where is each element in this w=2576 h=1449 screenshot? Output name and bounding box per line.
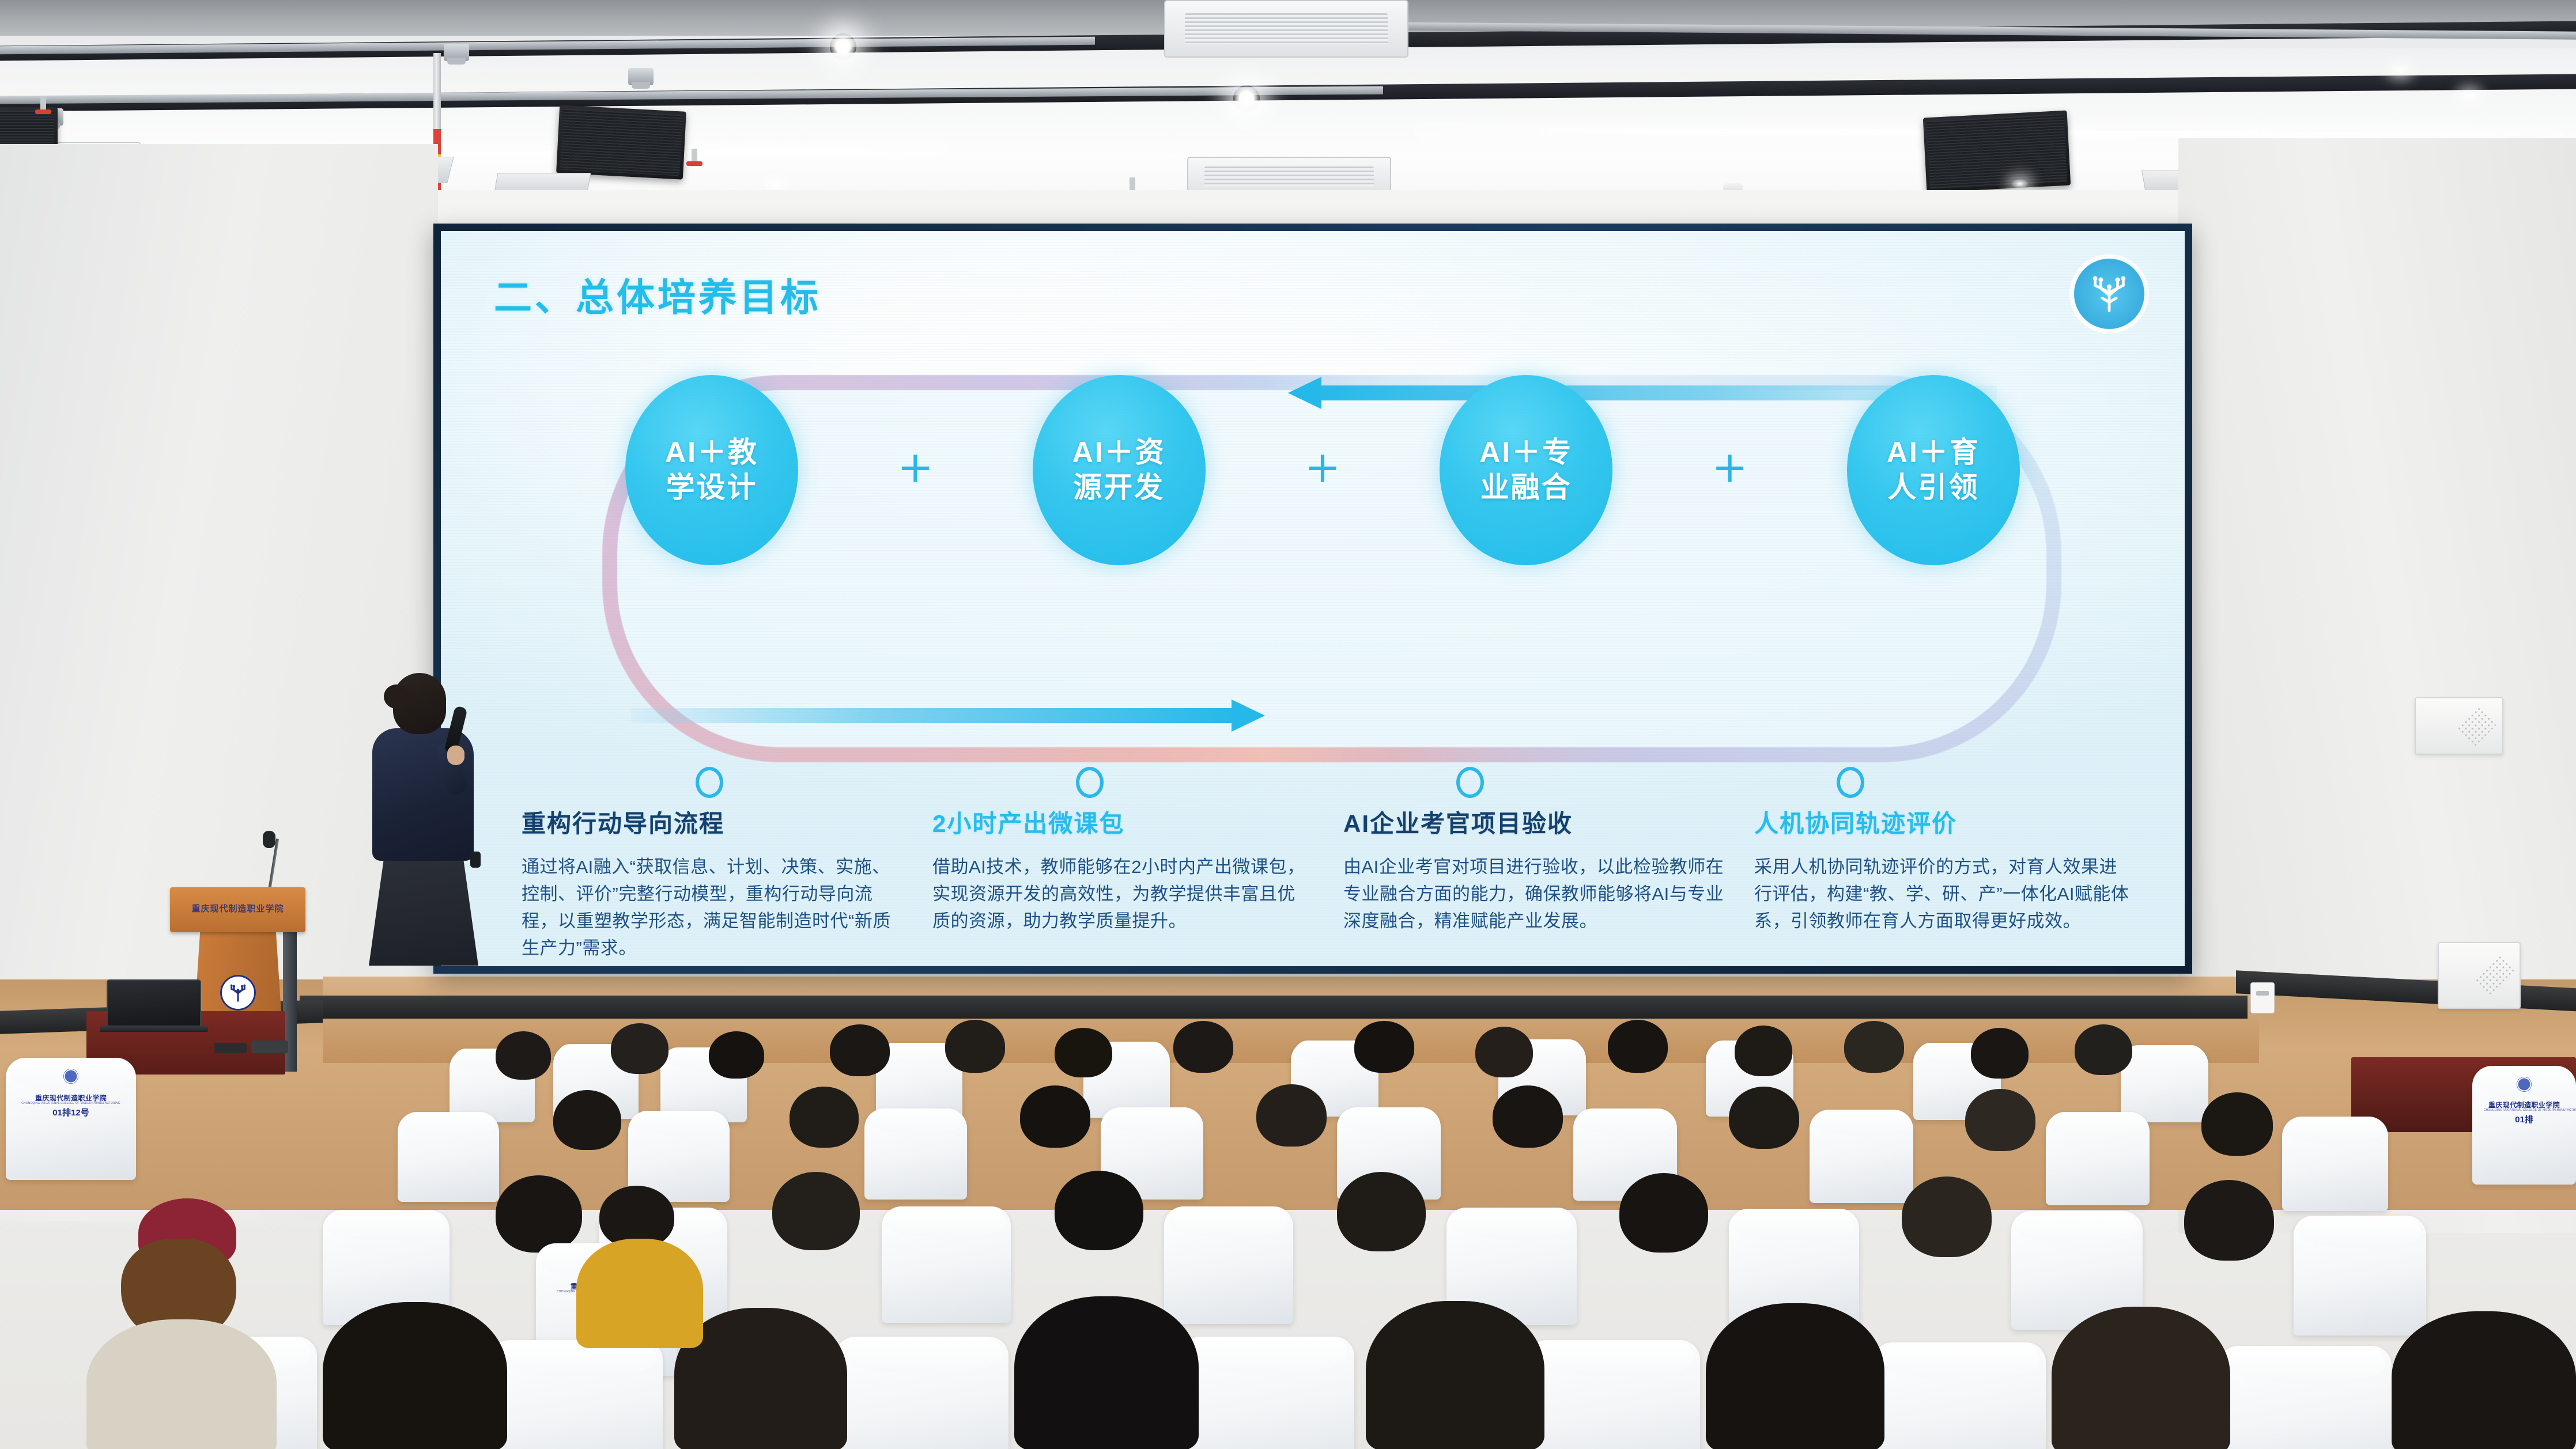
chair xyxy=(1181,1337,1354,1449)
audience-shoulders xyxy=(2052,1307,2230,1449)
audience-head xyxy=(1608,1020,1668,1073)
chair-institution-cn: 重庆现代制造职业学院 xyxy=(2484,1102,2564,1109)
connector-ring-2 xyxy=(1076,767,1104,798)
chair-institution-en: CHONGQING VOCATIONAL COLLEGE OF MODERN M… xyxy=(20,1102,122,1106)
audience-head xyxy=(496,1175,582,1253)
description-column-1: 重构行动导向流程 通过将AI融入“获取信息、计划、决策、实施、控制、评价”完整行… xyxy=(522,804,902,966)
column-body: 由AI企业考官对项目进行验收，以此检验教师在专业融合方面的能力，确保教师能够将A… xyxy=(1343,853,1724,935)
chair xyxy=(2121,1045,2208,1122)
ceiling-bulb xyxy=(830,33,856,60)
ac-grille xyxy=(1185,13,1388,44)
audience-head xyxy=(790,1087,859,1148)
presenter-skirt xyxy=(369,856,478,966)
column-heading: AI企业考官项目验收 xyxy=(1343,804,1724,839)
chair xyxy=(1810,1110,1913,1203)
node-line-1: AI＋专 xyxy=(1479,436,1573,468)
audience-head xyxy=(772,1172,860,1250)
node-line-1: AI＋资 xyxy=(1072,436,1166,468)
chair xyxy=(1527,1340,1700,1449)
audience-head xyxy=(1735,1026,1792,1076)
column-heading: 人机协同轨迹评价 xyxy=(1754,804,2135,839)
node-ellipse-2[interactable]: AI＋资 源开发 xyxy=(1033,375,1206,565)
chair-seat-number: 01排12号 xyxy=(20,1108,122,1118)
power-socket[interactable] xyxy=(2250,982,2275,1013)
speaker-mesh xyxy=(560,109,682,176)
node-line-2: 源开发 xyxy=(1073,471,1165,504)
ceiling-spotlight xyxy=(628,68,654,85)
description-column-2: 2小时产出微课包 借助AI技术，教师能够在2小时内产出微课包，实现资源开发的高效… xyxy=(932,804,1313,966)
chair xyxy=(490,1340,663,1449)
arrow-head-right xyxy=(1232,699,1265,732)
audience-head xyxy=(1055,1028,1112,1077)
ac-grille xyxy=(1204,167,1374,188)
column-body: 借助AI技术，教师能够在2小时内产出微课包，实现资源开发的高效性，为教学提供丰富… xyxy=(932,853,1313,935)
audience-head xyxy=(1475,1027,1533,1077)
node-ellipse-3[interactable]: AI＋专 业融合 xyxy=(1440,375,1612,565)
recessed-downlight xyxy=(2011,179,2029,189)
speaker-mesh xyxy=(1927,114,2067,189)
audience-shoulders xyxy=(1706,1303,1884,1449)
audience-head xyxy=(1055,1171,1143,1250)
audience-shoulders-cream xyxy=(86,1319,277,1449)
slide-canvas: 二、总体培养目标 xyxy=(441,231,2185,966)
chair-labelled: 重庆现代制造职业学院 CHONGQING VOCATIONAL COLLEGE … xyxy=(2472,1066,2576,1185)
audience-shoulders xyxy=(1366,1301,1544,1449)
lecture-hall-photo: 二、总体培养目标 xyxy=(0,0,2576,1449)
fire-sprinkler xyxy=(692,149,697,166)
audience-head xyxy=(1619,1173,1708,1253)
speaker-perforation xyxy=(2475,954,2517,997)
audience-head xyxy=(1354,1021,1414,1073)
description-columns: 重构行动导向流程 通过将AI融入“获取信息、计划、决策、实施、控制、评价”完整行… xyxy=(522,804,2135,966)
plus-sign-3: ＋ xyxy=(1712,452,1748,488)
audience-head xyxy=(945,1020,1005,1073)
chair-logo-icon xyxy=(2517,1077,2532,1092)
speaker-perforation xyxy=(2457,706,2498,746)
chair xyxy=(2294,1216,2426,1335)
chair-seat-number: 01排 xyxy=(2484,1115,2564,1125)
audience-shoulders xyxy=(1014,1296,1199,1449)
chair xyxy=(836,1337,1009,1449)
audience-head xyxy=(553,1090,621,1150)
ceiling-bulb xyxy=(1233,85,1260,112)
plus-sign-2: ＋ xyxy=(1305,452,1340,488)
audience-head xyxy=(709,1031,764,1079)
audience-shoulders-yellow xyxy=(576,1239,703,1348)
chair xyxy=(2046,1112,2150,1205)
recessed-downlight xyxy=(2392,65,2409,75)
audience-head xyxy=(2075,1024,2132,1075)
desk-phone[interactable] xyxy=(251,1041,288,1053)
node-ellipse-4[interactable]: AI＋育 人引领 xyxy=(1847,375,2020,565)
column-heading: 重构行动导向流程 xyxy=(522,804,902,839)
audience-head xyxy=(611,1023,668,1074)
chair-logo-icon xyxy=(63,1069,78,1084)
audience-head xyxy=(1902,1176,1992,1257)
chair xyxy=(2282,1117,2388,1211)
chair xyxy=(882,1206,1011,1323)
audience-head xyxy=(830,1024,890,1076)
audience-head xyxy=(1020,1085,1090,1148)
projection-screen: 二、总体培养目标 xyxy=(433,224,2192,974)
presentation-clicker[interactable] xyxy=(470,852,481,868)
chair xyxy=(1873,1342,2046,1449)
chair xyxy=(864,1108,967,1200)
node-line-2: 人引领 xyxy=(1887,471,1979,504)
audience-shoulders xyxy=(323,1302,507,1449)
presenter-hand xyxy=(447,746,464,765)
connector-ring-3 xyxy=(1456,767,1484,798)
wall-speaker-panel xyxy=(2415,697,2503,755)
chair-institution-cn: 重庆现代制造职业学院 xyxy=(20,1095,122,1102)
plus-sign-1: ＋ xyxy=(897,452,933,488)
ceiling-speaker xyxy=(1923,111,2071,193)
desk-remote[interactable] xyxy=(214,1043,247,1053)
connector-ring-1 xyxy=(696,767,723,798)
audience-head xyxy=(496,1031,551,1080)
ceiling-speaker xyxy=(556,105,686,179)
podium-microphone-head xyxy=(263,831,275,848)
audience-head xyxy=(1337,1172,1426,1251)
presenter xyxy=(369,673,478,961)
air-conditioner-cassette xyxy=(1164,0,1408,58)
chair-seat-tag: 重庆现代制造职业学院 CHONGQING VOCATIONAL COLLEGE … xyxy=(20,1095,122,1118)
description-column-4: 人机协同轨迹评价 采用人机协同轨迹评价的方式，对育人效果进行评估，构建“教、学、… xyxy=(1754,804,2135,966)
audience-head xyxy=(2201,1092,2273,1156)
audience-head xyxy=(1173,1021,1233,1073)
audience-shoulders xyxy=(2392,1311,2576,1449)
chair-seat-tag: 重庆现代制造职业学院 CHONGQING VOCATIONAL COLLEGE … xyxy=(2484,1102,2564,1125)
connector-ring-4 xyxy=(1837,767,1864,798)
baseboard xyxy=(300,996,2248,1019)
node-line-1: AI＋育 xyxy=(1887,436,1980,468)
college-logo-icon xyxy=(2069,254,2149,334)
fire-sprinkler xyxy=(40,97,46,114)
node-line-1: AI＋教 xyxy=(665,436,758,468)
description-column-3: AI企业考官项目验收 由AI企业考官对项目进行验收，以此检验教师在专业融合方面的… xyxy=(1343,804,1724,966)
presenter-hair-bun xyxy=(384,684,409,709)
chair xyxy=(398,1112,499,1202)
lectern-top: 重庆现代制造职业学院 xyxy=(170,887,305,932)
column-body: 采用人机协同轨迹评价的方式，对育人效果进行评估，构建“教、学、研、产”一体化AI… xyxy=(1754,853,2135,935)
audience-head xyxy=(1971,1028,2029,1079)
column-heading: 2小时产出微课包 xyxy=(932,804,1313,839)
ceiling-spotlight xyxy=(444,44,469,61)
arrow-shaft xyxy=(631,708,1234,723)
node-line-2: 学设计 xyxy=(666,471,758,504)
connector-ring-row xyxy=(556,767,2101,793)
node-ellipse-1[interactable]: AI＋教 学设计 xyxy=(625,375,798,565)
column-body: 通过将AI融入“获取信息、计划、决策、实施、控制、评价”完整行动模型，重构行动导… xyxy=(522,853,902,962)
chair-institution-en: CHONGQING VOCATIONAL COLLEGE OF MODERN M… xyxy=(2484,1109,2564,1113)
chair xyxy=(1164,1206,1293,1324)
wall-speaker-panel xyxy=(2438,942,2521,1009)
lectern-label: 重庆现代制造职业学院 xyxy=(176,902,300,914)
slide-title: 二、总体培养目标 xyxy=(494,267,821,322)
recessed-downlight xyxy=(2461,91,2478,101)
audience-head xyxy=(1965,1089,2035,1151)
audience-head xyxy=(2184,1180,2274,1261)
audience-head xyxy=(1493,1085,1563,1148)
presenter-laptop[interactable] xyxy=(107,979,201,1027)
audience-head xyxy=(1256,1084,1327,1147)
audience-head xyxy=(1729,1087,1799,1149)
lectern-logo-icon xyxy=(220,975,256,1011)
arrow-right xyxy=(631,708,1265,723)
node-line-2: 业融合 xyxy=(1480,471,1572,504)
chair xyxy=(2219,1346,2392,1449)
node-row: AI＋教 学设计 ＋ AI＋资 源开发 ＋ AI＋专 业融合 ＋ AI＋育 xyxy=(625,375,2020,565)
audience-head xyxy=(1844,1021,1904,1073)
chair-labelled: 重庆现代制造职业学院 CHONGQING VOCATIONAL COLLEGE … xyxy=(6,1058,136,1180)
